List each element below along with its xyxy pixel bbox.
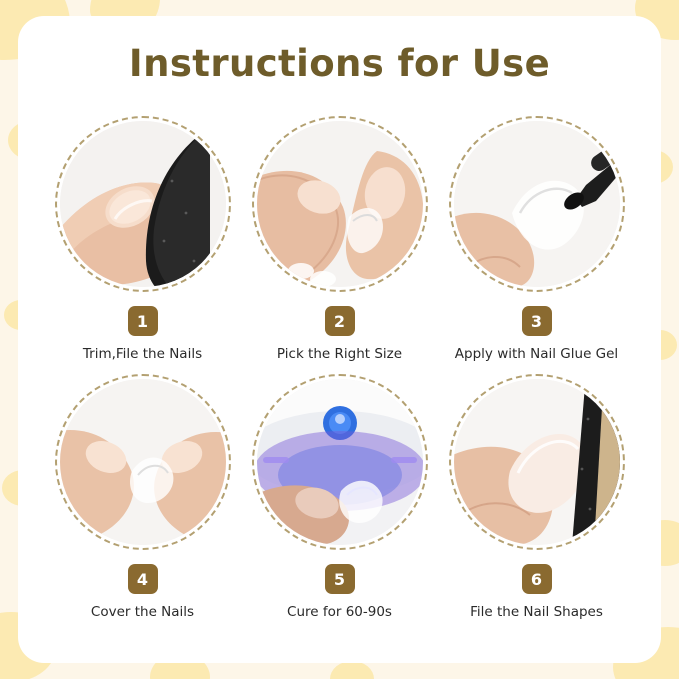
step-caption: File the Nail Shapes bbox=[470, 604, 603, 620]
dashed-ring bbox=[449, 116, 625, 292]
step-item: 6 File the Nail Shapes bbox=[438, 374, 635, 620]
step-item: 2 Pick the Right Size bbox=[241, 116, 438, 362]
step-photo-wrapper bbox=[252, 116, 428, 292]
steps-grid: 1 Trim,File the Nails bbox=[44, 116, 636, 632]
step-caption: Cure for 60-90s bbox=[287, 604, 392, 620]
step-caption: Apply with Nail Glue Gel bbox=[455, 346, 618, 362]
step-item: 1 Trim,File the Nails bbox=[44, 116, 241, 362]
step-photo-wrapper bbox=[55, 374, 231, 550]
step-photo-wrapper bbox=[252, 374, 428, 550]
step-photo-wrapper bbox=[55, 116, 231, 292]
step-item: 5 Cure for 60-90s bbox=[241, 374, 438, 620]
decorative-blob bbox=[330, 661, 374, 679]
poster-background: Instructions for Use bbox=[0, 0, 679, 679]
page-title: Instructions for Use bbox=[18, 42, 661, 85]
dashed-ring bbox=[252, 374, 428, 550]
step-number-badge: 4 bbox=[128, 564, 158, 594]
dashed-ring bbox=[55, 374, 231, 550]
step-number-badge: 3 bbox=[522, 306, 552, 336]
step-photo-wrapper bbox=[449, 116, 625, 292]
step-caption: Cover the Nails bbox=[91, 604, 194, 620]
dashed-ring bbox=[449, 374, 625, 550]
step-number-badge: 6 bbox=[522, 564, 552, 594]
dashed-ring bbox=[55, 116, 231, 292]
instructions-card: Instructions for Use bbox=[18, 16, 661, 663]
step-item: 4 Cover the Nails bbox=[44, 374, 241, 620]
step-item: 3 Apply with Nail Glue Gel bbox=[438, 116, 635, 362]
step-caption: Pick the Right Size bbox=[277, 346, 402, 362]
step-caption: Trim,File the Nails bbox=[83, 346, 202, 362]
step-number-badge: 5 bbox=[325, 564, 355, 594]
step-number-badge: 1 bbox=[128, 306, 158, 336]
dashed-ring bbox=[252, 116, 428, 292]
step-number-badge: 2 bbox=[325, 306, 355, 336]
step-photo-wrapper bbox=[449, 374, 625, 550]
